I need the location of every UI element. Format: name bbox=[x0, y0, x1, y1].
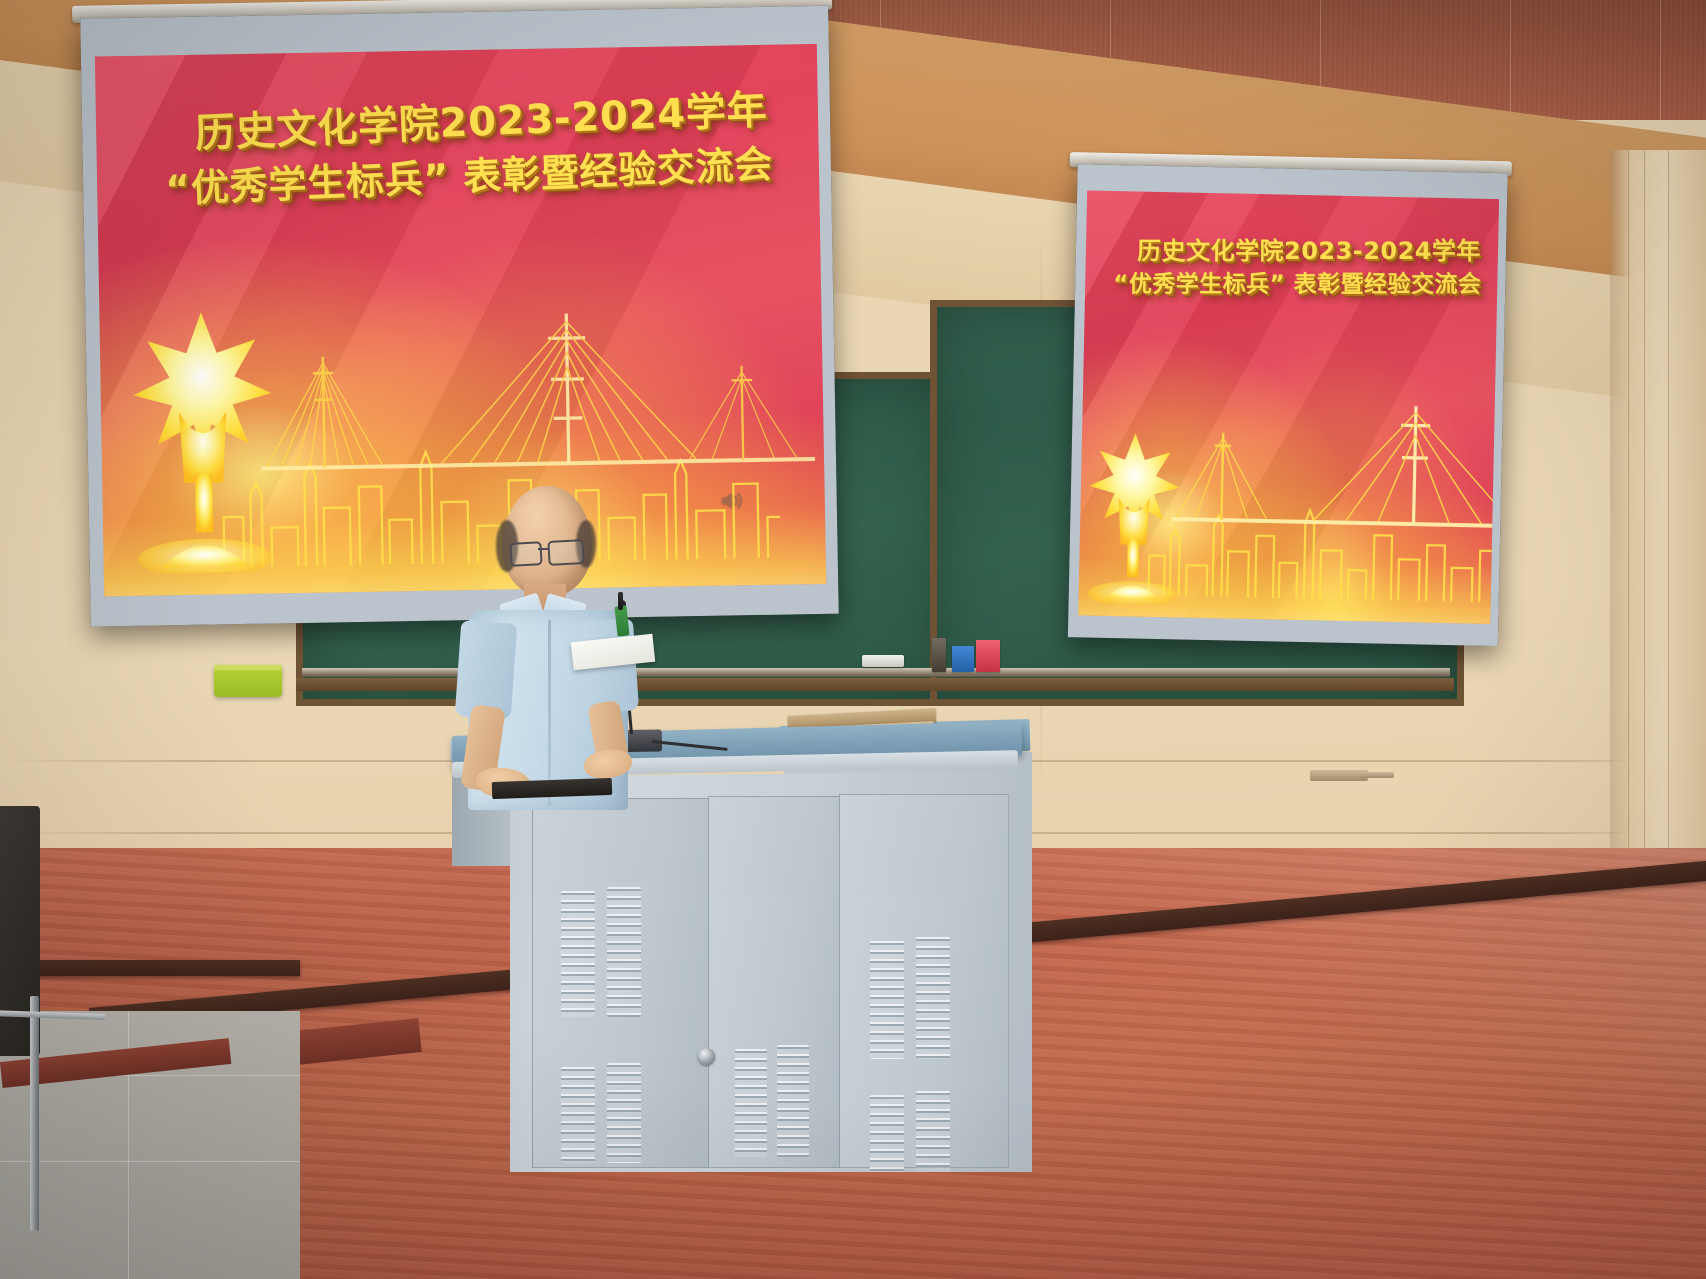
vent-slats bbox=[607, 1063, 641, 1163]
banner-title-line2: “优秀学生标兵” 表彰暨经验交流会 bbox=[1085, 265, 1497, 299]
glasses-right-lens bbox=[547, 539, 584, 566]
laser-pointer[interactable] bbox=[614, 605, 629, 636]
podium-lock-icon[interactable] bbox=[698, 1048, 715, 1065]
podium-door-right[interactable] bbox=[839, 794, 1009, 1168]
basket-rim bbox=[214, 665, 282, 670]
vent-slats bbox=[870, 941, 904, 1059]
chair-leg bbox=[30, 996, 39, 1231]
podium-cabinet-body bbox=[510, 772, 1010, 1172]
vent-slats bbox=[916, 937, 950, 1059]
stacking-chair[interactable] bbox=[0, 806, 106, 1226]
presenter-left-sleeve bbox=[455, 620, 518, 720]
presenter bbox=[440, 480, 740, 810]
podium-door-middle[interactable] bbox=[708, 796, 840, 1168]
vent-slats bbox=[777, 1045, 809, 1157]
shirt-placket bbox=[548, 620, 551, 806]
trophy-icon bbox=[1083, 390, 1186, 605]
laser-pointer-tip bbox=[618, 592, 623, 610]
right-screen-surface: 历史文化学院2023-2024学年 “优秀学生标兵” 表彰暨经验交流会 bbox=[1068, 164, 1508, 646]
glasses-bridge bbox=[538, 548, 549, 550]
vent-slats bbox=[607, 887, 641, 1017]
vent-slats bbox=[735, 1049, 767, 1157]
cable-bridge-icon bbox=[1170, 396, 1499, 567]
chalk-box-red[interactable] bbox=[976, 640, 1000, 672]
lecture-hall-photo: 历史文化学院2023-2024学年 “优秀学生标兵” 表彰暨经验交流会 bbox=[0, 0, 1706, 1279]
podium-door-left[interactable] bbox=[532, 798, 709, 1168]
right-screen-banner: 历史文化学院2023-2024学年 “优秀学生标兵” 表彰暨经验交流会 bbox=[1078, 190, 1499, 624]
vent-slats bbox=[561, 1067, 595, 1163]
vent-slats bbox=[561, 891, 595, 1017]
trophy-icon bbox=[121, 291, 285, 575]
chalk-box-blue[interactable] bbox=[952, 646, 974, 672]
banner-title-line1: 历史文化学院2023-2024学年 bbox=[1086, 231, 1498, 266]
blackboard-eraser[interactable] bbox=[862, 655, 904, 667]
right-screen-frame: 历史文化学院2023-2024学年 “优秀学生标兵” 表彰暨经验交流会 bbox=[1068, 164, 1508, 646]
wall-bracket-arm bbox=[1358, 772, 1394, 778]
green-basket[interactable] bbox=[214, 665, 282, 697]
right-projection-screen: 历史文化学院2023-2024学年 “优秀学生标兵” 表彰暨经验交流会 bbox=[1056, 152, 1516, 661]
glasses-left-lens bbox=[509, 541, 542, 567]
chalk-stub-dark[interactable] bbox=[932, 638, 946, 672]
